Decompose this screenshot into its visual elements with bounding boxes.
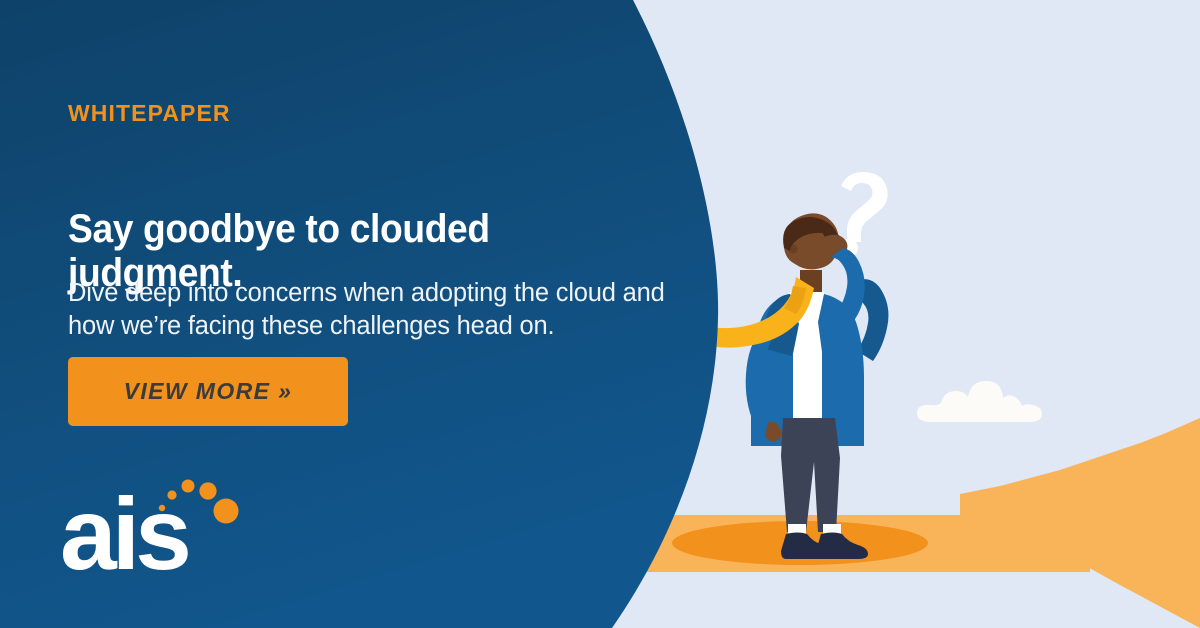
- subhead-text: Dive deep into concerns when adopting th…: [68, 277, 668, 345]
- logo-wordmark: ais: [62, 477, 188, 582]
- ais-logo[interactable]: ais: [62, 462, 262, 582]
- view-more-button[interactable]: VIEW MORE »: [68, 357, 348, 426]
- whitepaper-banner: WHITEPAPER Say goodbye to clouded judgme…: [0, 0, 1200, 628]
- eyebrow-label: WHITEPAPER: [68, 100, 231, 127]
